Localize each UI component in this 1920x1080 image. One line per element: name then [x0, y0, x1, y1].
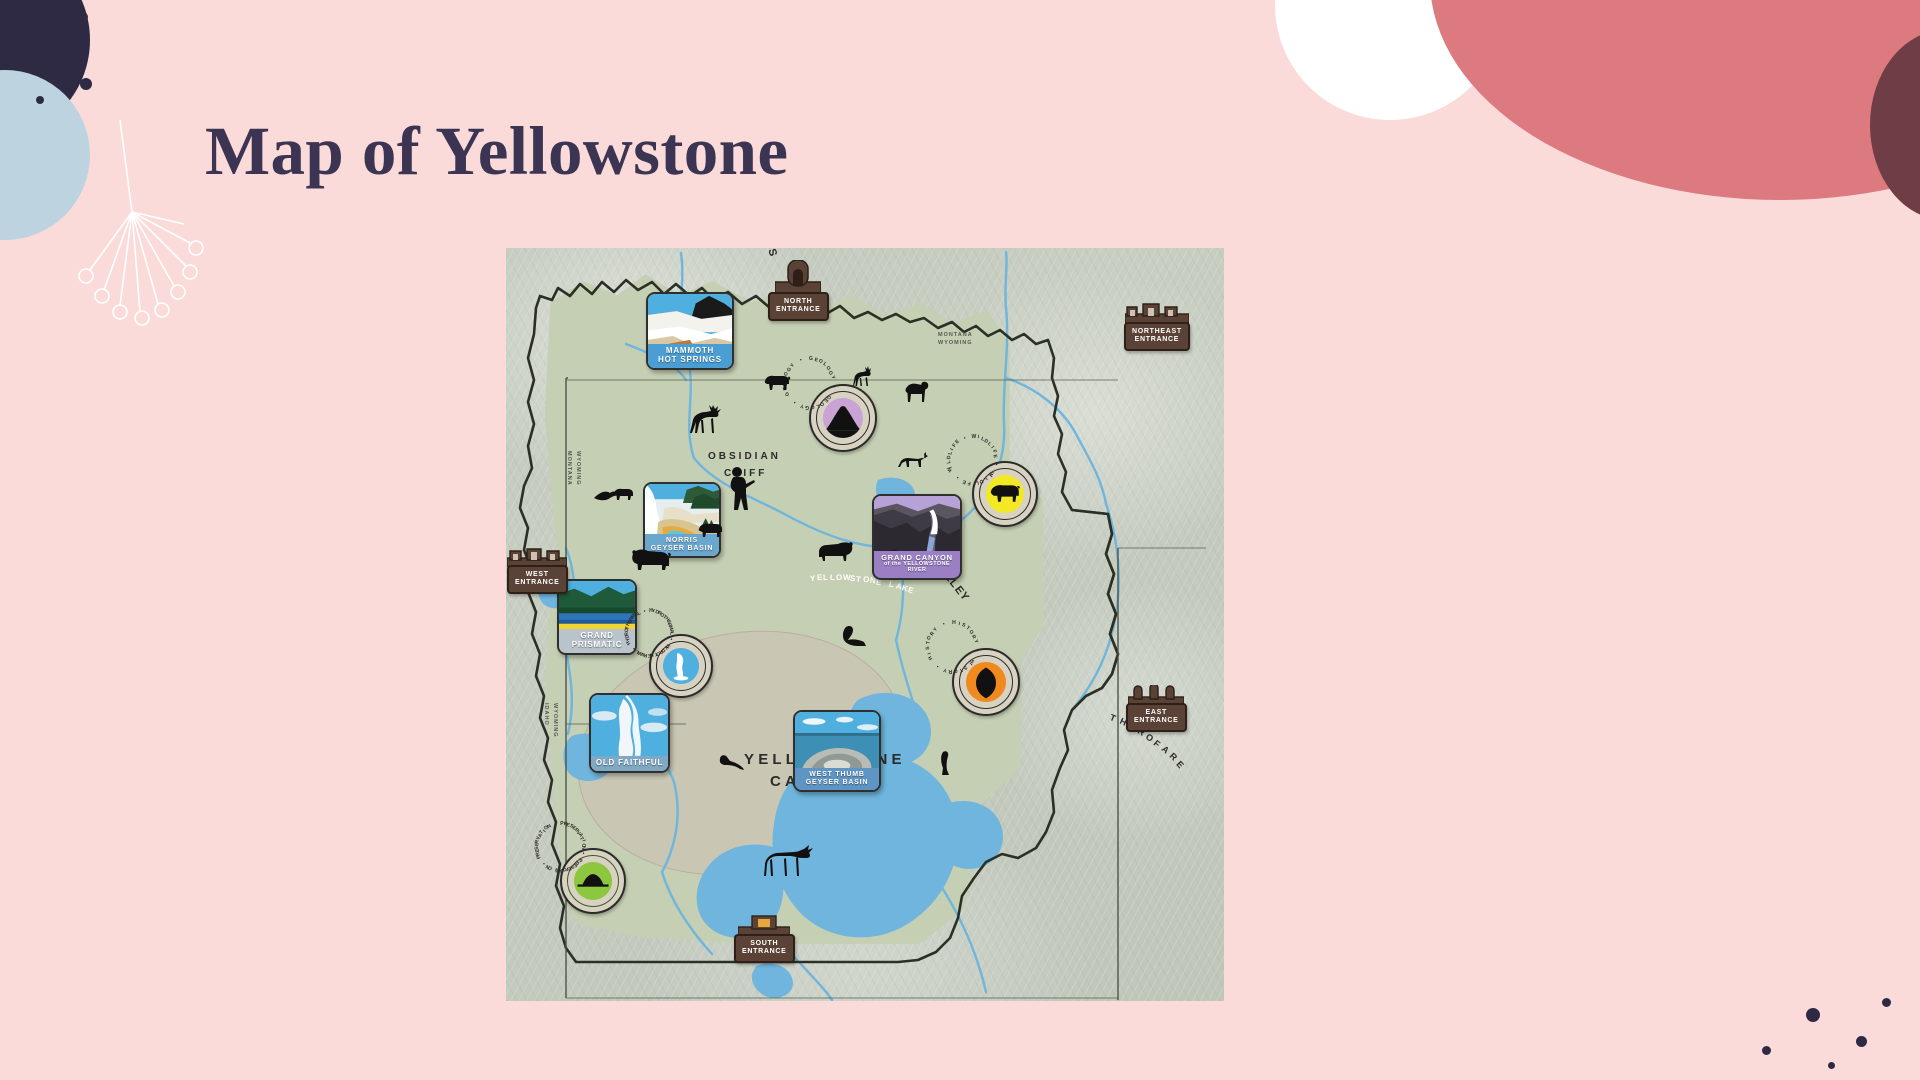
poster-caption: WEST THUMB GEYSER BASIN — [795, 768, 879, 790]
silhouette-swan — [840, 624, 866, 650]
dot-decor — [36, 96, 44, 104]
label-state-montana-w: MONTANA — [566, 451, 572, 486]
badge-ring-text: HISTORY • HISTORY • HISTORY • — [954, 650, 1018, 714]
silhouette-bear-right — [818, 540, 856, 562]
badge-geology[interactable]: GEOLOGY • GEOLOGY • GEOLOGY • — [809, 384, 877, 452]
dot-decor — [78, 12, 88, 22]
entrance-north-entrance[interactable]: NORTH ENTRANCE — [768, 292, 829, 321]
entrance-east-entrance[interactable]: EAST ENTRANCE — [1126, 703, 1187, 732]
silhouette-bird-east — [938, 750, 952, 776]
dot-decor — [1762, 1046, 1771, 1055]
dot-decor — [22, 34, 38, 50]
badge-ring-text: PRESERVATION • PRESERVATION • PRESERVATI… — [562, 850, 624, 912]
badge-wildlife[interactable]: WILDLIFE • WILDLIFE • WILDLIFE • — [972, 461, 1038, 527]
poster-card-old-faithful[interactable]: OLD FAITHFUL — [589, 693, 670, 773]
poster-caption-line1: WEST THUMB — [809, 771, 864, 778]
badge-ring-text: GEOLOGY • GEOLOGY • GEOLOGY • — [811, 386, 875, 450]
badge-preservation[interactable]: PRESERVATION • PRESERVATION • PRESERVATI… — [560, 848, 626, 914]
kiosk-icon — [738, 914, 790, 936]
entrance-label-line1: NORTHEAST — [1132, 328, 1182, 335]
dot-decor — [80, 78, 92, 90]
dot-decor — [1856, 1036, 1867, 1047]
label-state-montana-nw: MONTANA — [938, 332, 973, 338]
label-state-wyoming-nw: WYOMING — [938, 340, 973, 346]
silhouette-bison-north — [762, 372, 792, 392]
poster-caption-line1: OLD FAITHFUL — [596, 758, 663, 767]
silhouette-elk-west — [690, 405, 724, 437]
silhouette-moose — [764, 843, 814, 879]
badge-hydrothermal[interactable]: HYDROTHERMAL • HYDROTHERMAL • HYDROTHERM… — [649, 634, 713, 698]
silhouette-bison-center — [696, 520, 724, 539]
silhouette-elk-north — [853, 366, 875, 390]
badge-ring-text: WILDLIFE • WILDLIFE • WILDLIFE • — [974, 463, 1036, 525]
entrance-label-line1: WEST — [526, 571, 549, 578]
entrance-west-entrance[interactable]: WEST ENTRANCE — [507, 565, 568, 594]
poster-card-mammoth-hot-springs[interactable]: MAMMOTH HOT SPRINGS — [646, 292, 734, 370]
badge-history[interactable]: HISTORY • HISTORY • HISTORY • — [952, 648, 1020, 716]
dot-decor — [1882, 998, 1891, 1007]
poster-caption-line2: PRISMATIC — [572, 640, 623, 649]
poster-card-grand-canyon-of-the-yellowstone-river[interactable]: GRAND CANYON of the YELLOWSTONE RIVER — [872, 494, 962, 580]
page-title: Map of Yellowstone — [205, 112, 788, 191]
poster-caption-sub: of the YELLOWSTONE RIVER — [876, 562, 958, 574]
label-obsidian-cliff-line1: OBSIDIAN — [708, 451, 781, 462]
badge-ring-text: HYDROTHERMAL • HYDROTHERMAL • HYDROTHERM… — [651, 636, 711, 696]
poster-caption-line2: GEYSER BASIN — [806, 779, 869, 786]
poster-card-west-thumb-geyser-basin[interactable]: WEST THUMB GEYSER BASIN — [793, 710, 881, 792]
entrance-label-line1: EAST — [1146, 709, 1167, 716]
silhouette-bison-small — [612, 486, 634, 501]
label-state-wyoming-sw: WYOMING — [552, 703, 558, 738]
cabin-row-icon — [1125, 302, 1189, 324]
silhouette-wolf — [898, 452, 928, 468]
entrance-south-entrance[interactable]: SOUTH ENTRANCE — [734, 934, 795, 963]
yellowstone-map[interactable]: GALLATIN MOUNTAINS ABSAROKA MOUNTAINS LA… — [506, 248, 1224, 1001]
silhouette-bear — [628, 546, 672, 572]
post-row-icon — [1128, 685, 1184, 705]
silhouette-bighorn-sheep — [901, 378, 931, 404]
cabin-row-icon — [507, 547, 567, 567]
stone-arch-icon — [775, 260, 821, 294]
entrance-label-line2: ENTRANCE — [776, 306, 821, 313]
silhouette-otter — [714, 753, 744, 771]
entrance-northeast-entrance[interactable]: NORTHEAST ENTRANCE — [1124, 322, 1190, 351]
entrance-label-line1: SOUTH — [750, 940, 778, 947]
dot-decor — [1828, 1062, 1835, 1069]
label-state-wyoming-w: WYOMING — [575, 451, 581, 486]
entrance-label-line2: ENTRANCE — [742, 948, 787, 955]
entrance-label-line2: ENTRANCE — [1134, 717, 1179, 724]
entrance-label-line1: NORTH — [784, 298, 812, 305]
poster-caption: MAMMOTH HOT SPRINGS — [648, 344, 732, 368]
poster-caption: OLD FAITHFUL — [591, 756, 668, 771]
entrance-label-line2: ENTRANCE — [1135, 336, 1180, 343]
poster-caption-line2: HOT SPRINGS — [658, 355, 722, 364]
poster-caption-line1: NORRIS — [666, 537, 698, 544]
silhouette-hiker — [724, 466, 756, 514]
poster-caption: GRAND CANYON of the YELLOWSTONE RIVER — [874, 551, 960, 578]
entrance-label-line2: ENTRANCE — [515, 579, 560, 586]
dot-decor — [1806, 1008, 1820, 1022]
label-state-idaho-sw: IDAHO — [543, 703, 549, 726]
